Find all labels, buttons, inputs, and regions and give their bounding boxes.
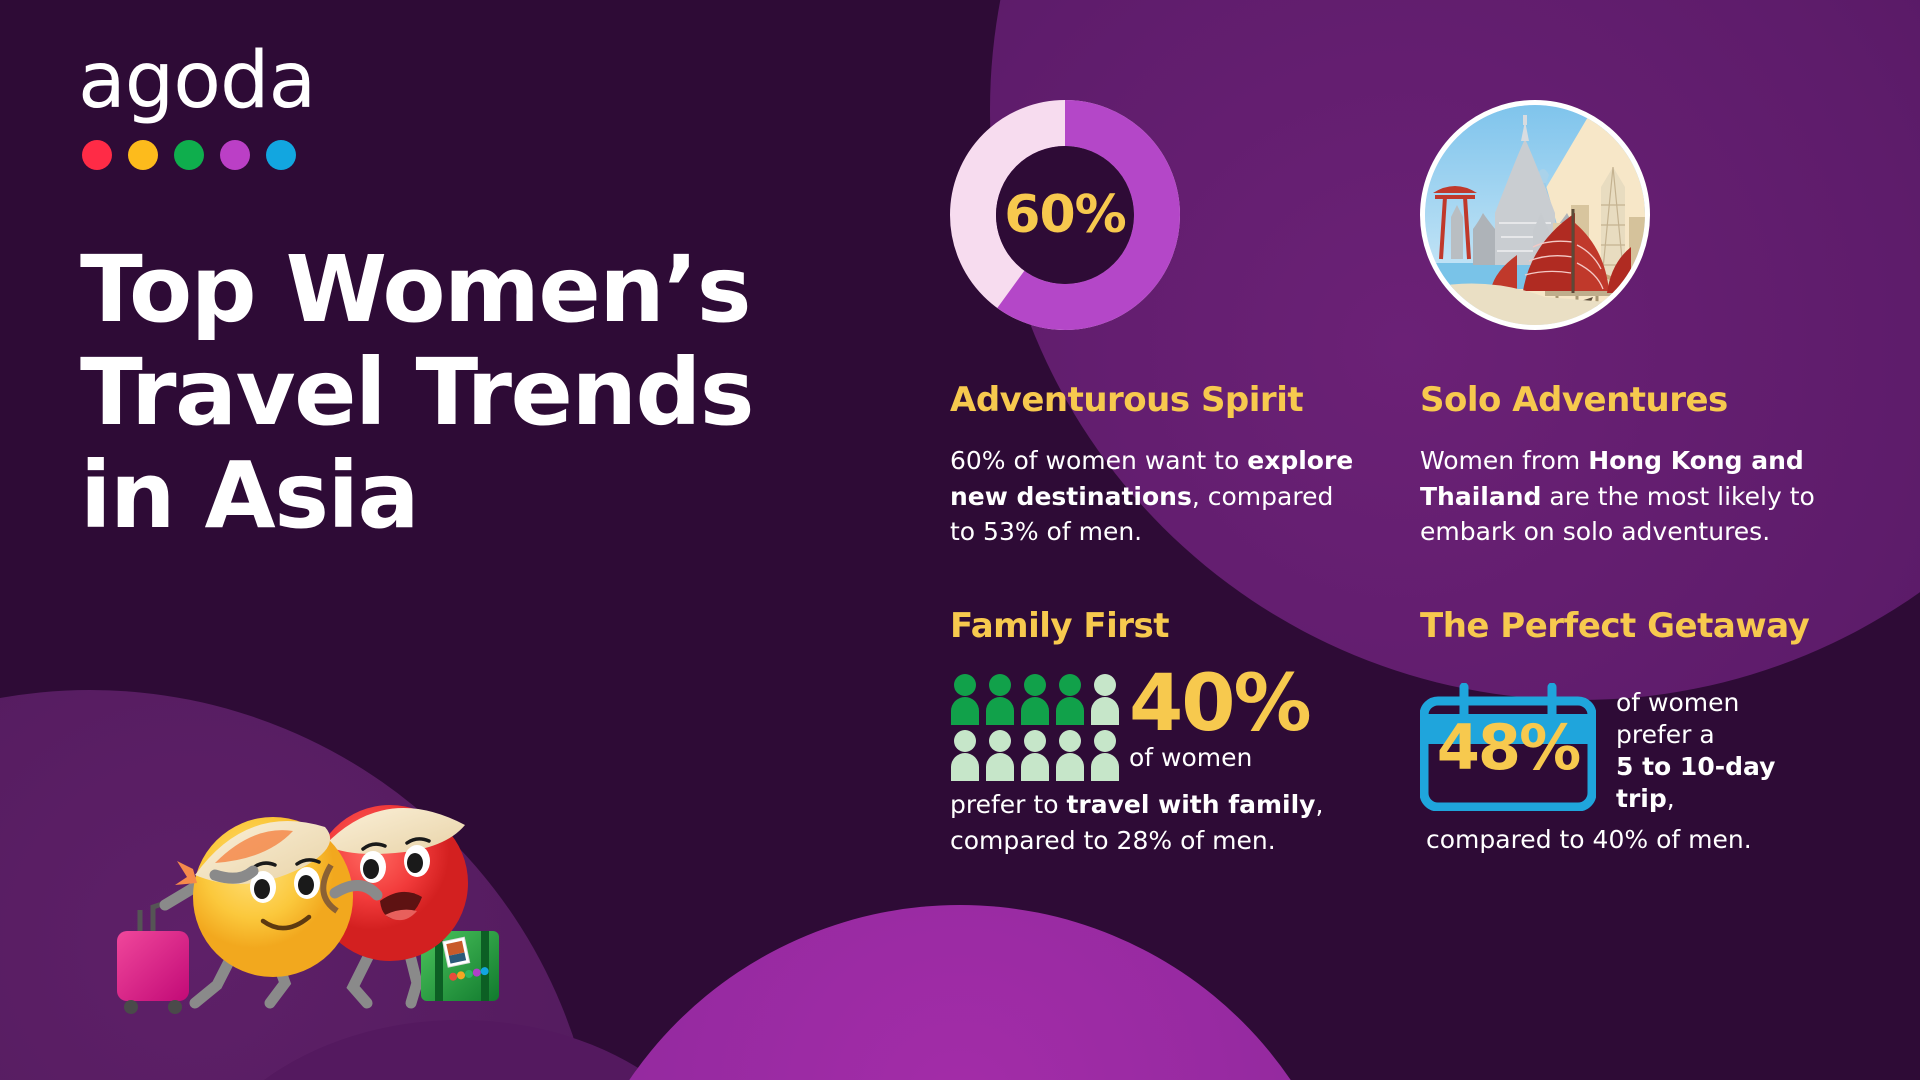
donut-center-label: 60% xyxy=(950,100,1180,330)
person-icon-filled xyxy=(950,673,980,725)
person-icon-empty xyxy=(1020,729,1050,781)
title-line-2: Travel Trends xyxy=(80,341,753,444)
donut-chart-60: 60% xyxy=(950,100,1180,330)
card-adventurous-spirit: 60% Adventurous Spirit 60% of women want… xyxy=(950,100,1360,550)
person-icon-filled xyxy=(1055,673,1085,725)
logo-dot-green xyxy=(174,140,204,170)
getaway-side-bold-2: trip xyxy=(1616,784,1667,813)
card-title-getaway: The Perfect Getaway xyxy=(1420,608,1830,645)
agoda-logo: agoda xyxy=(78,42,315,170)
solo-text-pre: Women from xyxy=(1420,446,1588,475)
card-perfect-getaway: The Perfect Getaway 48% of women prefer … xyxy=(1420,608,1830,858)
person-icon-empty xyxy=(950,729,980,781)
adventurous-text-pre: 60% of women want to xyxy=(950,446,1247,475)
logo-dot-blue xyxy=(266,140,296,170)
asia-skyline-image xyxy=(1420,100,1650,330)
getaway-percent: 48% xyxy=(1420,717,1596,779)
family-below-pre: prefer to xyxy=(950,790,1066,819)
page-title: Top Women’s Travel Trends in Asia xyxy=(80,238,753,547)
stats-row-bottom: Family First xyxy=(950,608,1860,858)
travel-mascots-illustration xyxy=(95,735,525,1015)
logo-dot-red xyxy=(82,140,112,170)
family-percent: 40% xyxy=(1129,669,1310,741)
card-body-solo: Women from Hong Kong and Thailand are th… xyxy=(1420,443,1830,550)
getaway-side-text: of women prefer a 5 to 10-day trip, xyxy=(1616,669,1775,815)
stats-row-top: 60% Adventurous Spirit 60% of women want… xyxy=(950,100,1860,550)
logo-dot-yellow xyxy=(128,140,158,170)
title-line-3: in Asia xyxy=(80,444,753,547)
title-line-1: Top Women’s xyxy=(80,238,753,341)
getaway-side-line-1: of women xyxy=(1616,687,1775,719)
people-pictogram xyxy=(950,673,1115,781)
card-title-solo: Solo Adventures xyxy=(1420,382,1830,419)
card-body-adventurous: 60% of women want to explore new destina… xyxy=(950,443,1360,550)
family-figures: 40% of women xyxy=(1129,669,1310,775)
person-icon-empty xyxy=(985,729,1015,781)
person-icon-empty xyxy=(1055,729,1085,781)
person-icon-filled xyxy=(985,673,1015,725)
card-solo-adventures: Solo Adventures Women from Hong Kong and… xyxy=(1420,100,1830,550)
getaway-side-comma: , xyxy=(1667,784,1675,813)
person-icon-filled xyxy=(1020,673,1050,725)
row-spacer xyxy=(950,550,1860,608)
person-icon-empty xyxy=(1090,729,1120,781)
family-below-text: prefer to travel with family, compared t… xyxy=(950,787,1360,858)
family-below-bold: travel with family xyxy=(1066,790,1315,819)
getaway-side-line-2: prefer a xyxy=(1616,719,1775,751)
stats-panel: 60% Adventurous Spirit 60% of women want… xyxy=(950,100,1860,858)
calendar-icon: 48% xyxy=(1420,683,1596,811)
logo-dot-purple xyxy=(220,140,250,170)
getaway-below-text: compared to 40% of men. xyxy=(1426,825,1830,854)
person-icon-empty xyxy=(1090,673,1120,725)
getaway-stat-block: 48% of women prefer a 5 to 10-day trip, xyxy=(1420,669,1830,815)
family-stat-block: 40% of women xyxy=(950,669,1360,781)
card-title-adventurous: Adventurous Spirit xyxy=(950,382,1360,419)
getaway-side-bold-1: 5 to 10-day xyxy=(1616,752,1775,781)
pink-suitcase xyxy=(117,903,189,1014)
logo-dot-row xyxy=(82,140,315,170)
logo-wordmark: agoda xyxy=(78,42,315,120)
infographic-root: agoda Top Women’s Travel Trends in Asia xyxy=(0,0,1920,1080)
card-family-first: Family First xyxy=(950,608,1360,858)
card-title-family: Family First xyxy=(950,608,1360,645)
